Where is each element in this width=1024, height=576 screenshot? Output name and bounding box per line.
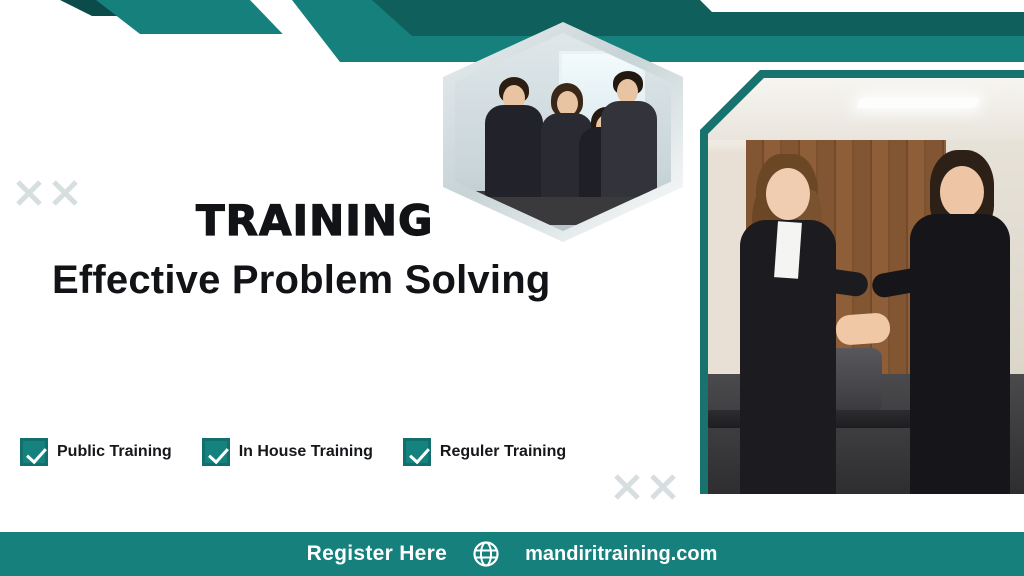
x-ornament-bottom: [612, 472, 684, 502]
page-title: Effective Problem Solving: [52, 258, 550, 303]
list-item-label: Public Training: [57, 443, 172, 461]
footer-bar: Register Here mandiritraining.com: [0, 532, 1024, 576]
list-item[interactable]: Reguler Training: [403, 438, 566, 466]
globe-icon: [473, 541, 499, 567]
poster-canvas: TRAINING Effective Problem Solving Publi…: [0, 0, 1024, 576]
hexagon-photo-frame: [443, 22, 683, 242]
check-icon[interactable]: [20, 438, 48, 466]
list-item-label: Reguler Training: [440, 443, 566, 461]
list-item-label: In House Training: [239, 443, 373, 461]
person-right: [900, 94, 1018, 494]
person-left: [726, 94, 846, 494]
check-icon[interactable]: [202, 438, 230, 466]
list-item[interactable]: In House Training: [202, 438, 373, 466]
kicker-title: TRAINING: [196, 196, 434, 245]
check-icon[interactable]: [403, 438, 431, 466]
list-item[interactable]: Public Training: [20, 438, 172, 466]
x-ornament-left: [14, 178, 86, 208]
website-url[interactable]: mandiritraining.com: [525, 543, 717, 566]
right-photo: [708, 78, 1024, 494]
register-cta[interactable]: Register Here: [307, 542, 447, 566]
business-handshake-photo: [708, 78, 1024, 494]
training-type-list: Public Training In House Training Regule…: [20, 438, 566, 466]
handshake: [835, 312, 891, 346]
